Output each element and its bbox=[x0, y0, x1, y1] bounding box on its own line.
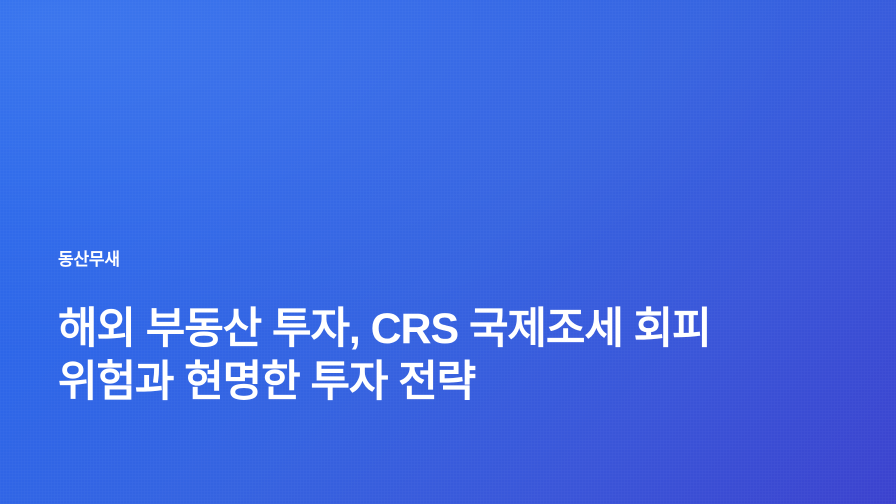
hero-banner: 동산무새 해외 부동산 투자, CRS 국제조세 회피 위험과 현명한 투자 전… bbox=[0, 0, 896, 504]
blog-name-label: 동산무새 bbox=[58, 250, 818, 270]
page-title: 해외 부동산 투자, CRS 국제조세 회피 위험과 현명한 투자 전략 bbox=[58, 270, 810, 409]
hero-text-block: 동산무새 해외 부동산 투자, CRS 국제조세 회피 위험과 현명한 투자 전… bbox=[58, 250, 818, 409]
